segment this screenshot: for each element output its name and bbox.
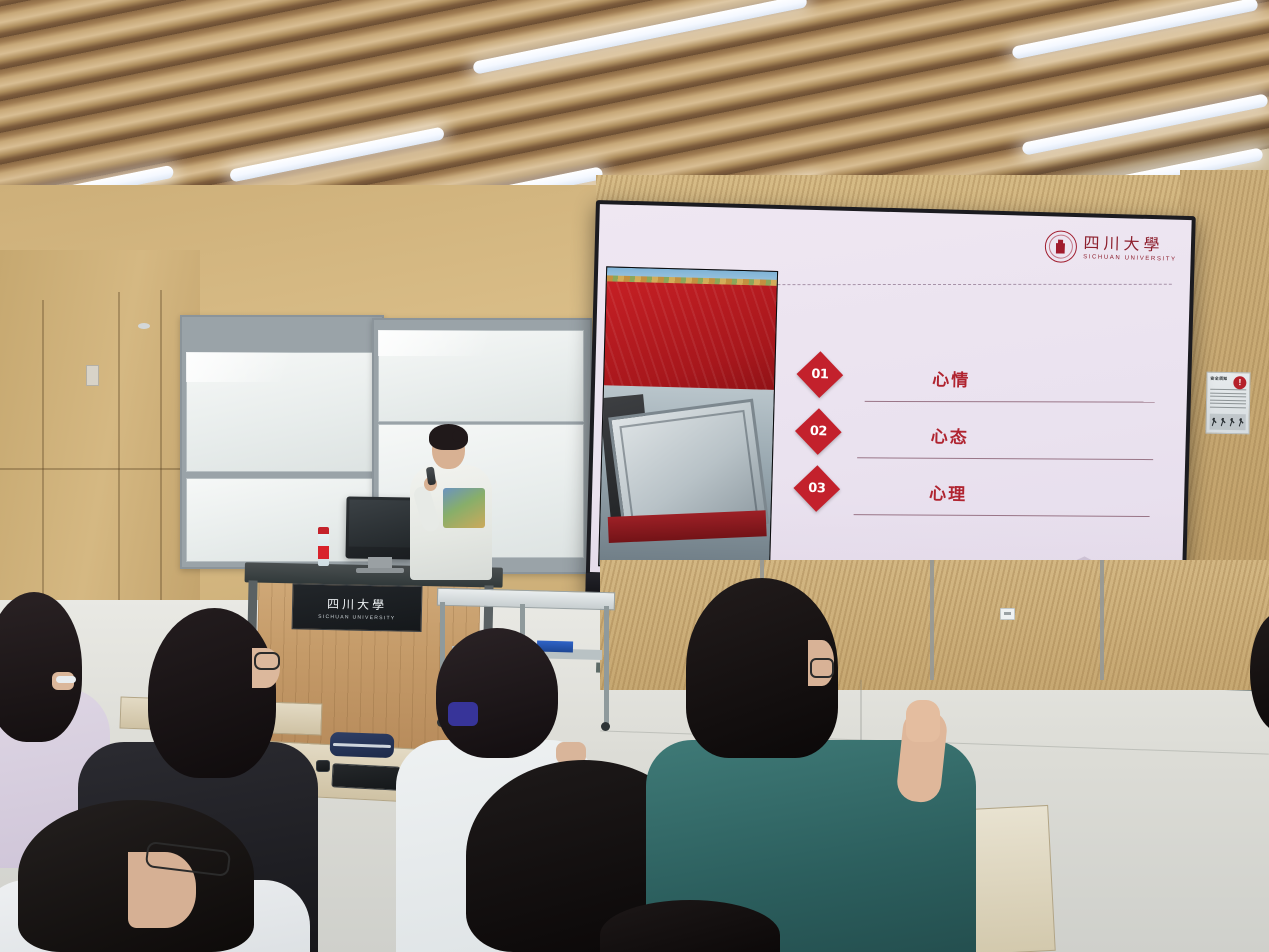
wall-divider [930,560,934,680]
safety-notice-sign: 安全须知 ! [1205,372,1250,435]
maxhub-display[interactable]: 四川大學 SICHUAN UNIVERSITY 01 心情 [585,200,1195,611]
bottle-cap [318,527,329,534]
pencil-case [330,732,395,758]
hair-tie [448,702,478,726]
item-label: 心理 [929,479,968,505]
wall-speaker [86,365,99,386]
wristwatch [56,676,76,683]
item-underline [865,401,1155,403]
cart-leg [604,606,609,724]
student-hair [436,628,558,758]
whiteboard-panel [186,352,376,472]
scu-name-english: SICHUAN UNIVERSITY [1083,254,1177,263]
bottle-label [318,546,329,559]
whiteboard-panel [378,330,584,422]
wall-seam [160,290,162,620]
list-item[interactable]: 03 心理 [800,472,968,510]
plaque-chinese: 四川大學 [327,595,387,613]
cart-wheel [601,722,610,731]
podium-monitor[interactable] [345,496,414,559]
scu-seal-icon [1044,230,1077,263]
item-number-badge: 02 [795,408,842,455]
item-number: 01 [811,367,828,382]
wall-seam [0,468,200,470]
smoke-detector [138,323,150,329]
item-label: 心情 [932,365,971,391]
wall-divider [1100,560,1104,680]
item-label: 心态 [930,422,969,448]
item-number: 03 [808,481,825,496]
plaque-english: SICHUAN UNIVERSITY [318,613,395,621]
list-item[interactable]: 02 心态 [801,415,969,453]
eyeglasses [254,652,280,670]
scu-name-chinese: 四川大學 [1083,235,1177,254]
list-item[interactable]: 01 心情 [803,358,971,396]
item-underline [857,457,1153,460]
student-hair [148,608,276,778]
presenter-shirt-graphic [443,488,485,528]
scu-logo: 四川大學 SICHUAN UNIVERSITY [1044,230,1177,266]
presenter-hair-bun [452,430,465,442]
sign-body-text [1210,389,1246,411]
eyeglasses [810,658,834,678]
power-outlet[interactable] [1000,608,1015,620]
smartphone[interactable] [316,760,330,772]
lecture-hall-photo: 安全须知 ! [0,0,1269,952]
torch-glyph [1056,239,1065,253]
wall-seam [118,292,120,622]
item-number-badge: 01 [797,351,844,398]
monitor-screen [349,499,412,547]
scu-wordmark: 四川大學 SICHUAN UNIVERSITY [1083,235,1177,263]
smartphone[interactable] [331,763,400,791]
lectern-plaque: 四川大學 SICHUAN UNIVERSITY [292,583,423,632]
photo-red-banner [604,281,777,394]
slide-photo [598,266,778,571]
monitor-base [356,568,404,573]
raised-hand [906,700,940,742]
evacuation-pictograms [1210,414,1246,431]
item-number: 02 [810,424,827,439]
wall-seam [42,300,44,630]
presentation-slide: 四川大學 SICHUAN UNIVERSITY 01 心情 [590,204,1192,588]
warning-icon: ! [1233,376,1246,389]
